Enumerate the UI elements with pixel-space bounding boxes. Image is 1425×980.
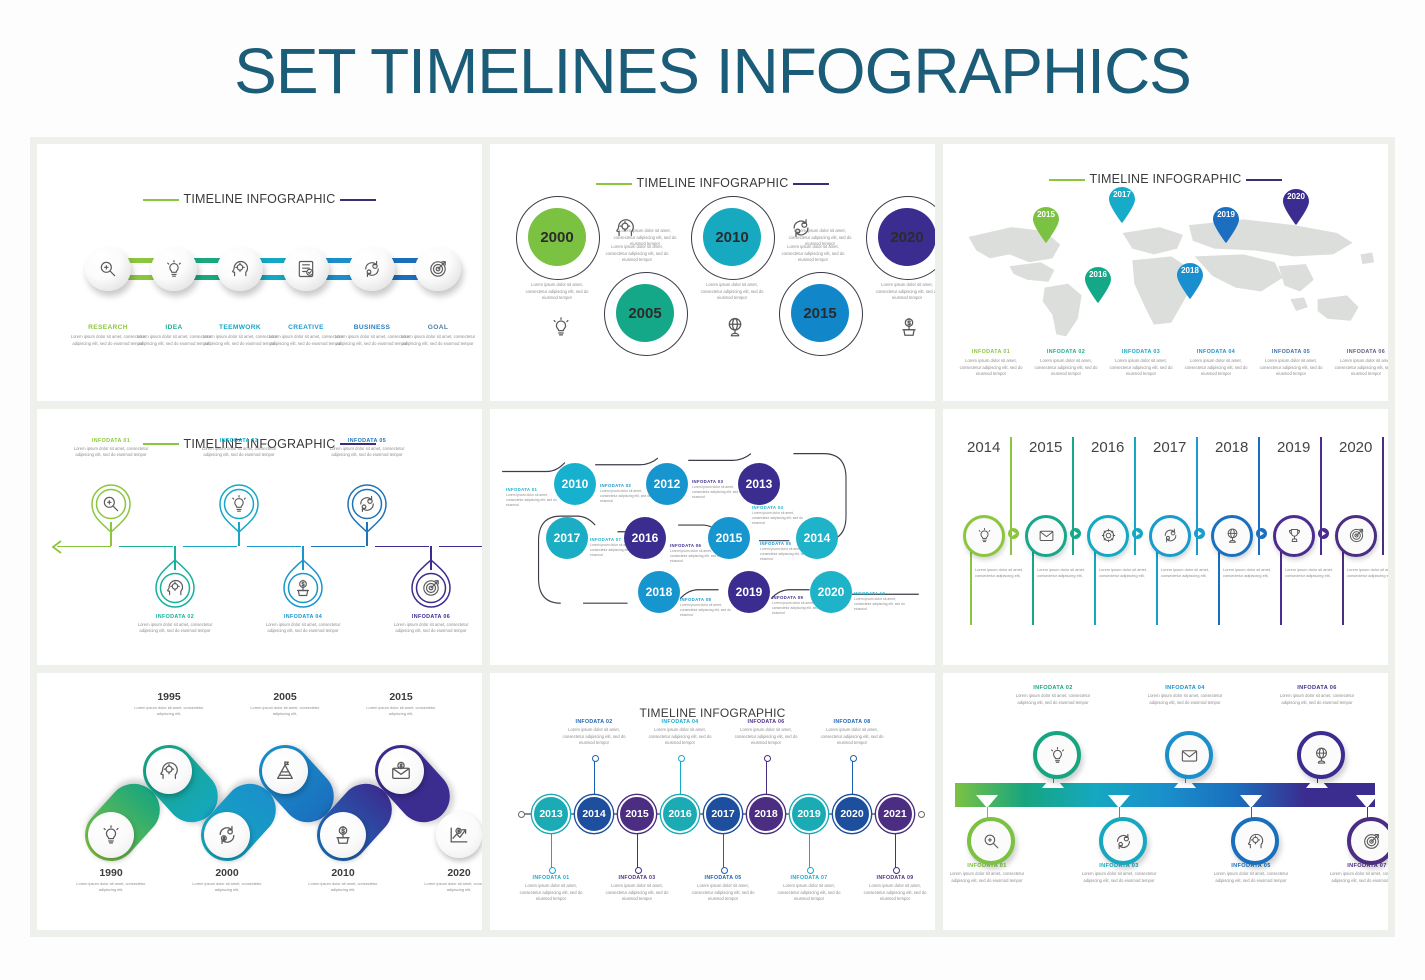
node-text-10: INFODATA 10Lorem ipsum dolor sit amet, c… [854,591,906,612]
label-stem-3 [637,833,638,869]
milestone-circle-4[interactable] [262,748,308,794]
heading-dash-left [596,183,632,185]
step-sphere-4[interactable] [283,247,329,291]
infodata-description: Lorem ipsum dolor sit amet, consectetur … [687,883,759,903]
axis-segment-3 [183,546,237,548]
step-arrow-5[interactable] [1256,528,1267,539]
step-arrow-4[interactable] [1194,528,1205,539]
infodata-description: Lorem ipsum dolor sit amet, consectetur … [601,883,673,903]
infodata-description: Lorem ipsum dolor sit amet, consectetur … [1182,358,1250,378]
year-label: 2019 [736,585,763,599]
step-sphere-6[interactable] [415,247,461,291]
infodata-block-7: INFODATA 07Lorem ipsum dolor sit amet, c… [1327,863,1388,884]
year-bubble-5[interactable]: 2015 [708,517,750,559]
label-stem-4 [680,759,681,795]
step-description: Lorem ipsum dolor sit amet, consectetur … [396,334,480,347]
infodata-label: INFODATA 03 [601,875,673,881]
infodata-description: Lorem ipsum dolor sit amet, consectetur … [816,727,888,747]
node-droplet-6[interactable] [410,558,452,610]
year-description-text: Lorem ipsum dolor sit amet, consectetur … [1099,567,1147,579]
node-text-5: INFODATA 05Lorem ipsum dolor sit amet, c… [328,438,406,459]
infodata-label: INFODATA 04 [644,719,716,725]
pin-year: 2017 [1107,190,1137,199]
panel8-heading: TIMELINE INFOGRAPHIC [490,706,935,720]
panels-container: TIMELINE INFOGRAPHIC RESEARCHLorem ipsum… [30,137,1395,937]
year-label: 2018 [1215,439,1271,456]
year-circle-4[interactable]: 2015 [791,284,849,342]
panel2-heading: TIMELINE INFOGRAPHIC [490,176,935,190]
year-bead-5[interactable]: 2017 [704,795,742,833]
node-description-3: Lorem ipsum dolor sit amet, consectetur … [695,282,769,302]
milestone-text-5: 2010Lorem ipsum dolor sit amet, consecte… [307,867,379,893]
node-text-3: INFODATA 03Lorem ipsum dolor sit amet, c… [200,438,278,459]
year-bubble-9[interactable]: 2019 [728,571,770,613]
year-description: Lorem ipsum dolor sit amet, consectetur … [249,705,321,717]
infodata-description: Lorem ipsum dolor sit amet, consectetur … [328,446,406,459]
year-bead-1[interactable]: 2013 [532,795,570,833]
year-bead-3[interactable]: 2015 [618,795,656,833]
infodata-description: Lorem ipsum dolor sit amet, consectetur … [1107,358,1175,378]
node-icon-1 [614,217,636,239]
infodata-description: Lorem ipsum dolor sit amet, consectetur … [392,622,470,635]
infodata-label: INFODATA 02 [1013,685,1093,691]
year-icon-ring-4[interactable] [1149,515,1191,557]
year-label: 2017 [554,531,581,545]
year-column-3: 2016 [1091,439,1147,456]
year-bubble-10[interactable]: 2020 [810,571,852,613]
year-description: Lorem ipsum dolor sit amet, consectetur … [423,881,482,893]
node-droplet-1[interactable] [90,482,132,534]
milestone-text-1: 1990Lorem ipsum dolor sit amet, consecte… [75,867,147,893]
panel-zigzag-ribbon-timeline: 1990Lorem ipsum dolor sit amet, consecte… [37,673,482,930]
year-label: 1990 [75,867,147,879]
infodata-description: Lorem ipsum dolor sit amet, consectetur … [1211,871,1291,884]
year-bubble-8[interactable]: 2018 [638,571,680,613]
heading-dash-left [143,199,179,201]
axis-arrow-left [51,540,65,554]
panel-world-map-timeline: TIMELINE INFOGRAPHIC 2015 2016 2017 2018… [943,144,1388,401]
infodata-description: Lorem ipsum dolor sit amet, consectetur … [136,622,214,635]
node-description-text: Lorem ipsum dolor sit amet, consectetur … [520,282,594,302]
infodata-description: Lorem ipsum dolor sit amet, consectetur … [515,883,587,903]
infodata-block-2: INFODATA 02Lorem ipsum dolor sit amet, c… [558,719,630,747]
infodata-description: Lorem ipsum dolor sit amet, consectetur … [72,446,150,459]
pin-year: 2020 [1281,192,1311,201]
node-description-1: Lorem ipsum dolor sit amet, consectetur … [520,282,594,302]
year-description-2: Lorem ipsum dolor sit amet, consectetur … [1037,567,1085,579]
year-description-text: Lorem ipsum dolor sit amet, consectetur … [1223,567,1271,579]
year-description-6: Lorem ipsum dolor sit amet, consectetur … [1285,567,1333,579]
step-arrow-3[interactable] [1132,528,1143,539]
year-description: Lorem ipsum dolor sit amet, consectetur … [191,881,263,893]
panel-circular-timeline: TIMELINE INFOGRAPHIC 2000Lorem ipsum dol… [490,144,935,401]
node-icon-3 [790,217,812,239]
step-sphere-2[interactable] [151,247,197,291]
step-arrow-1[interactable] [1008,528,1019,539]
year-description-4: Lorem ipsum dolor sit amet, consectetur … [1161,567,1209,579]
year-description-text: Lorem ipsum dolor sit amet, consectetur … [975,567,1023,579]
label-stem-8 [852,759,853,795]
infodata-description: Lorem ipsum dolor sit amet, consectetur … [752,511,804,526]
year-label: 2015 [803,305,836,322]
year-label: 2018 [646,585,673,599]
infodata-label: INFODATA 01 [957,349,1025,355]
label-stem-6 [766,759,767,795]
node-text-1: INFODATA 01Lorem ipsum dolor sit amet, c… [72,438,150,459]
infodata-block-6: INFODATA 06Lorem ipsum dolor sit amet, c… [730,719,802,747]
year-description: Lorem ipsum dolor sit amet, consectetur … [365,705,437,717]
infodata-block-9: INFODATA 09Lorem ipsum dolor sit amet, c… [859,875,931,903]
infodata-description: Lorem ipsum dolor sit amet, consectetur … [558,727,630,747]
infodata-description: Lorem ipsum dolor sit amet, consectetur … [1145,693,1225,706]
infodata-block-6: INFODATA 06Lorem ipsum dolor sit amet, c… [1277,685,1357,706]
infodata-block-8: INFODATA 08Lorem ipsum dolor sit amet, c… [816,719,888,747]
year-label: 2016 [668,808,691,820]
infodata-block-3: INFODATA 03Lorem ipsum dolor sit amet, c… [601,875,673,903]
infodata-description: Lorem ipsum dolor sit amet, consectetur … [644,727,716,747]
infodata-description: Lorem ipsum dolor sit amet, consectetur … [773,883,845,903]
year-description-text: Lorem ipsum dolor sit amet, consectetur … [1037,567,1085,579]
panel3-heading: TIMELINE INFOGRAPHIC [943,172,1388,186]
year-icon-ring-2[interactable] [1025,515,1067,557]
year-label: 2015 [365,691,437,703]
year-description-1: Lorem ipsum dolor sit amet, consectetur … [975,567,1023,579]
panels-grid: TIMELINE INFOGRAPHIC RESEARCHLorem ipsum… [37,144,1388,930]
map-infodata-column-2: INFODATA 02Lorem ipsum dolor sit amet, c… [1032,349,1100,378]
year-bead-7[interactable]: 2019 [790,795,828,833]
infodata-label: INFODATA 09 [859,875,931,881]
icon-ring-6[interactable] [1297,731,1345,779]
infodata-block-1: INFODATA 01Lorem ipsum dolor sit amet, c… [515,875,587,903]
year-bead-9[interactable]: 2021 [876,795,914,833]
infodata-block-1: INFODATA 01Lorem ipsum dolor sit amet, c… [947,863,1027,884]
panel-vertical-years-timeline: 2014Lorem ipsum dolor sit amet, consecte… [943,409,1388,666]
node-text-1: INFODATA 01Lorem ipsum dolor sit amet, c… [506,487,558,508]
year-bubble-2[interactable]: 2012 [646,463,688,505]
step-column-6: GOALLorem ipsum dolor sit amet, consecte… [396,324,480,347]
year-description-7: Lorem ipsum dolor sit amet, consectetur … [1347,567,1388,579]
infodata-label: INFODATA 07 [773,875,845,881]
year-description-3: Lorem ipsum dolor sit amet, consectetur … [1099,567,1147,579]
infodata-block-4: INFODATA 04Lorem ipsum dolor sit amet, c… [1145,685,1225,706]
infodata-description: Lorem ipsum dolor sit amet, consectetur … [600,489,652,504]
mid-description-1: Lorem ipsum dolor sit amet, consectetur … [600,244,674,264]
year-circle-1[interactable]: 2000 [528,208,586,266]
step-sphere-5[interactable] [349,247,395,291]
label-nub-6 [764,755,771,762]
year-bubble-7[interactable]: 2017 [546,517,588,559]
axis-segment-4 [247,546,301,548]
panel-arrow-line-timeline: TIMELINE INFOGRAPHIC INFODATA 01Lorem ip… [37,409,482,666]
milestone-circle-5[interactable] [320,812,366,858]
milestone-circle-1[interactable] [88,812,134,858]
infodata-description: Lorem ipsum dolor sit amet, consectetur … [1327,871,1388,884]
infodata-label: INFODATA 08 [816,719,888,725]
year-label: 2013 [539,808,562,820]
year-bubble-1[interactable]: 2010 [554,463,596,505]
node-description-5: Lorem ipsum dolor sit amet, consectetur … [870,282,935,302]
infodata-description: Lorem ipsum dolor sit amet, consectetur … [957,358,1025,378]
infodata-label: INFODATA 04 [264,614,342,620]
year-column-7: 2020 [1339,439,1388,456]
infodata-block-5: INFODATA 05Lorem ipsum dolor sit amet, c… [687,875,759,903]
icon-ring-1[interactable] [967,817,1015,865]
year-label: 2013 [746,477,773,491]
mid-description-2: Lorem ipsum dolor sit amet, consectetur … [776,244,850,264]
year-label: 2017 [711,808,734,820]
milestone-circle-7[interactable] [436,812,482,858]
infodata-description: Lorem ipsum dolor sit amet, consectetur … [1079,871,1159,884]
infodata-description: Lorem ipsum dolor sit amet, consectetur … [854,597,906,612]
year-icon-ring-5[interactable] [1211,515,1253,557]
map-pin-6[interactable]: 2020 [1281,188,1311,226]
infodata-label: INFODATA 04 [752,505,804,510]
year-description-text: Lorem ipsum dolor sit amet, consectetur … [1161,567,1209,579]
year-column-4: 2017 [1153,439,1209,456]
milestone-circle-6[interactable] [378,748,424,794]
heading-dash-right [340,199,376,201]
label-stem-7 [809,833,810,869]
infodata-label: INFODATA 05 [687,875,759,881]
year-description-text: Lorem ipsum dolor sit amet, consectetur … [1347,567,1388,579]
milestone-text-4: 2005Lorem ipsum dolor sit amet, consecte… [249,691,321,717]
year-description: Lorem ipsum dolor sit amet, consectetur … [75,881,147,893]
year-label: 2014 [582,808,605,820]
map-infodata-column-3: INFODATA 03Lorem ipsum dolor sit amet, c… [1107,349,1175,378]
node-text-2: INFODATA 02Lorem ipsum dolor sit amet, c… [600,483,652,504]
infodata-label: INFODATA 04 [1145,685,1225,691]
axis-segment-1 [57,546,111,548]
infodata-label: INFODATA 06 [1332,349,1388,355]
panel-gradient-bar-timeline: INFODATA 01Lorem ipsum dolor sit amet, c… [943,673,1388,930]
label-nub-3 [635,867,642,874]
year-circle-2[interactable]: 2005 [616,284,674,342]
map-pin-1[interactable]: 2015 [1031,206,1061,244]
year-label: 2020 [423,867,482,879]
node-description-text: Lorem ipsum dolor sit amet, consectetur … [870,282,935,302]
label-nub-8 [850,755,857,762]
infographic-page: SET TIMELINES INFOGRAPHICS TIMELINE INFO… [0,0,1425,980]
node-droplet-4[interactable] [282,558,324,610]
year-bead-6[interactable]: 2018 [747,795,785,833]
year-description: Lorem ipsum dolor sit amet, consectetur … [307,881,379,893]
year-description: Lorem ipsum dolor sit amet, consectetur … [133,705,205,717]
year-label: 1995 [133,691,205,703]
year-label: 2014 [804,531,831,545]
year-label: 2016 [1091,439,1147,456]
icon-ring-5[interactable] [1231,817,1279,865]
year-label: 2015 [716,531,743,545]
infodata-label: INFODATA 05 [328,438,406,444]
page-title: SET TIMELINES INFOGRAPHICS [0,34,1425,108]
year-icon-ring-7[interactable] [1335,515,1377,557]
year-label: 2012 [654,477,681,491]
node-text-2: INFODATA 02Lorem ipsum dolor sit amet, c… [136,614,214,635]
infodata-label: INFODATA 01 [515,875,587,881]
chain-end-right [918,811,925,818]
year-label: 2010 [562,477,589,491]
year-circle-3[interactable]: 2010 [703,208,761,266]
map-pin-4[interactable]: 2018 [1175,262,1205,300]
year-label: 2020 [1339,439,1388,456]
node-icon-5 [898,316,920,338]
node-text-6: INFODATA 06Lorem ipsum dolor sit amet, c… [392,614,470,635]
icon-ring-7[interactable] [1347,817,1388,865]
infodata-label: INFODATA 10 [854,591,906,596]
node-text-4: INFODATA 04Lorem ipsum dolor sit amet, c… [752,505,804,526]
infodata-description: Lorem ipsum dolor sit amet, consectetur … [730,727,802,747]
node-droplet-3[interactable] [218,482,260,534]
infodata-label: INFODATA 04 [1182,349,1250,355]
panel-bead-chain-timeline: TIMELINE INFOGRAPHIC 2013201420152016201… [490,673,935,930]
axis-segment-6 [375,546,429,548]
step-sphere-1[interactable] [85,247,131,291]
milestone-circle-3[interactable] [204,812,250,858]
year-label: 2017 [1153,439,1209,456]
year-label: 2019 [797,808,820,820]
mid-description-text: Lorem ipsum dolor sit amet, consectetur … [600,244,674,264]
year-bead-8[interactable]: 2020 [833,795,871,833]
year-label: 2020 [818,585,845,599]
milestone-text-3: 2000Lorem ipsum dolor sit amet, consecte… [191,867,263,893]
year-label: 2020 [840,808,863,820]
icon-ring-4[interactable] [1165,731,1213,779]
infodata-label: INFODATA 02 [136,614,214,620]
label-nub-7 [807,867,814,874]
label-stem-1 [551,833,552,869]
infodata-label: INFODATA 03 [1107,349,1175,355]
label-nub-2 [592,755,599,762]
year-label: 2000 [191,867,263,879]
heading-dash-right [1246,179,1282,181]
label-stem-2 [594,759,595,795]
year-bead-4[interactable]: 2016 [661,795,699,833]
year-description-5: Lorem ipsum dolor sit amet, consectetur … [1223,567,1271,579]
year-description-text: Lorem ipsum dolor sit amet, consectetur … [1285,567,1333,579]
year-label: 2005 [628,305,661,322]
axis-segment-end [439,546,482,548]
infodata-label: INFODATA 08 [680,597,732,602]
year-label: 2020 [890,229,923,246]
label-nub-5 [721,867,728,874]
pin-year: 2018 [1175,266,1205,275]
vertical-rule-top-7 [1382,437,1384,555]
node-icon-2 [550,316,572,338]
infodata-description: Lorem ipsum dolor sit amet, consectetur … [200,446,278,459]
milestone-circle-2[interactable] [146,748,192,794]
infodata-description: Lorem ipsum dolor sit amet, consectetur … [680,603,732,618]
year-label: 2018 [754,808,777,820]
infodata-block-3: INFODATA 03Lorem ipsum dolor sit amet, c… [1079,863,1159,884]
pin-year: 2019 [1211,210,1241,219]
infodata-label: INFODATA 02 [1032,349,1100,355]
infodata-label: INFODATA 06 [730,719,802,725]
infodata-description: Lorem ipsum dolor sit amet, consectetur … [1332,358,1388,378]
year-label: 2014 [967,439,1023,456]
year-bubble-4[interactable]: 2014 [796,517,838,559]
map-pin-2[interactable]: 2016 [1083,266,1113,304]
infodata-description: Lorem ipsum dolor sit amet, consectetur … [264,622,342,635]
year-label: 2019 [1277,439,1333,456]
label-nub-9 [893,867,900,874]
year-icon-ring-3[interactable] [1087,515,1129,557]
infodata-description: Lorem ipsum dolor sit amet, consectetur … [1013,693,1093,706]
node-droplet-5[interactable] [346,482,388,534]
label-nub-4 [678,755,685,762]
year-label: 2021 [883,808,906,820]
year-label: 2000 [540,229,573,246]
infodata-description: Lorem ipsum dolor sit amet, consectetur … [1257,358,1325,378]
axis-segment-5 [311,546,365,548]
chain-end-left [518,811,525,818]
map-pin-3[interactable]: 2017 [1107,186,1137,224]
step-arrow-2[interactable] [1070,528,1081,539]
year-bubble-3[interactable]: 2013 [738,463,780,505]
infodata-label: INFODATA 07 [1327,863,1388,869]
year-label: 2005 [249,691,321,703]
milestone-text-7: 2020Lorem ipsum dolor sit amet, consecte… [423,867,482,893]
node-icon-4 [724,316,746,338]
icon-ring-3[interactable] [1099,817,1147,865]
infodata-label: INFODATA 05 [1257,349,1325,355]
infodata-label: INFODATA 02 [600,483,652,488]
node-text-3: INFODATA 03Lorem ipsum dolor sit amet, c… [692,479,744,500]
pin-year: 2016 [1083,270,1113,279]
infodata-description: Lorem ipsum dolor sit amet, consectetur … [859,883,931,903]
map-pin-5[interactable]: 2019 [1211,206,1241,244]
infodata-description: Lorem ipsum dolor sit amet, consectetur … [947,871,1027,884]
infodata-description: Lorem ipsum dolor sit amet, consectetur … [1277,693,1357,706]
year-icon-ring-6[interactable] [1273,515,1315,557]
infodata-description: Lorem ipsum dolor sit amet, consectetur … [692,485,744,500]
infodata-label: INFODATA 06 [1277,685,1357,691]
infodata-label: INFODATA 01 [506,487,558,492]
panel-snake-years-timeline: 2010201220132014201620152017201820192020… [490,409,935,666]
step-arrow-6[interactable] [1318,528,1329,539]
map-infodata-column-1: INFODATA 01Lorem ipsum dolor sit amet, c… [957,349,1025,378]
map-infodata-column-6: INFODATA 06Lorem ipsum dolor sit amet, c… [1332,349,1388,378]
year-bead-2[interactable]: 2014 [575,795,613,833]
year-label: 2010 [307,867,379,879]
step-label: GOAL [396,324,480,331]
year-label: 2016 [632,531,659,545]
year-column-5: 2018 [1215,439,1271,456]
year-column-2: 2015 [1029,439,1085,456]
infodata-label: INFODATA 02 [558,719,630,725]
axis-segment-2 [119,546,173,548]
year-icon-ring-1[interactable] [963,515,1005,557]
infodata-description: Lorem ipsum dolor sit amet, consectetur … [1032,358,1100,378]
infodata-description: Lorem ipsum dolor sit amet, consectetur … [506,493,558,508]
panel-spheres-timeline: TIMELINE INFOGRAPHIC RESEARCHLorem ipsum… [37,144,482,401]
year-column-1: 2014 [967,439,1023,456]
map-infodata-column-5: INFODATA 05Lorem ipsum dolor sit amet, c… [1257,349,1325,378]
node-text-4: INFODATA 04Lorem ipsum dolor sit amet, c… [264,614,342,635]
mid-description-text: Lorem ipsum dolor sit amet, consectetur … [776,244,850,264]
icon-ring-2[interactable] [1033,731,1081,779]
year-label: 2015 [625,808,648,820]
year-bubble-6[interactable]: 2016 [624,517,666,559]
world-map [951,196,1380,346]
node-description-text: Lorem ipsum dolor sit amet, consectetur … [695,282,769,302]
year-circle-5[interactable]: 2020 [878,208,935,266]
infodata-block-2: INFODATA 02Lorem ipsum dolor sit amet, c… [1013,685,1093,706]
step-sphere-3[interactable] [217,247,263,291]
heading-dash-left [1049,179,1085,181]
label-stem-5 [723,833,724,869]
node-droplet-2[interactable] [154,558,196,610]
heading-dash-right [793,183,829,185]
